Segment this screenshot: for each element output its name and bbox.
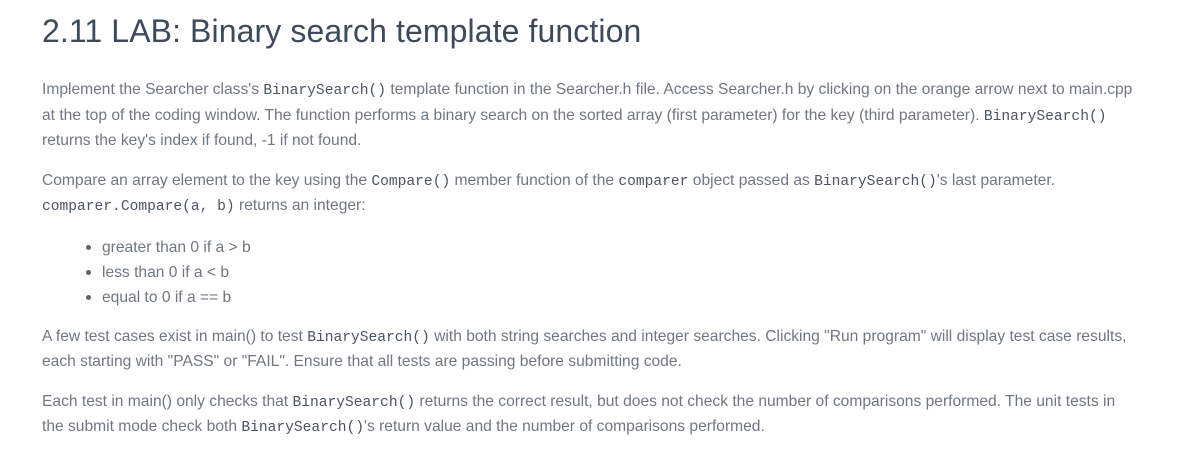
inline-code: BinarySearch() bbox=[292, 395, 415, 411]
comparison-result-list: greater than 0 if a > b less than 0 if a… bbox=[42, 235, 1134, 310]
inline-code: comparer bbox=[618, 174, 688, 190]
paragraph-intro: Implement the Searcher class's BinarySea… bbox=[42, 78, 1134, 154]
paragraph-test-cases: A few test cases exist in main() to test… bbox=[42, 325, 1134, 375]
text-run: Compare an array element to the key usin… bbox=[42, 172, 371, 189]
page-title: 2.11 LAB: Binary search template functio… bbox=[42, 10, 1144, 52]
paragraph-unit-tests: Each test in main() only checks that Bin… bbox=[42, 390, 1134, 441]
inline-code: BinarySearch() bbox=[307, 330, 430, 346]
paragraph-compare: Compare an array element to the key usin… bbox=[42, 169, 1134, 220]
text-run: Each test in main() only checks that bbox=[42, 393, 292, 410]
list-item: greater than 0 if a > b bbox=[86, 235, 1134, 260]
text-run: 's return value and the number of compar… bbox=[364, 418, 765, 435]
inline-code: BinarySearch() bbox=[814, 174, 937, 190]
text-run: returns an integer: bbox=[235, 197, 366, 214]
text-run: member function of the bbox=[450, 172, 618, 189]
inline-code: BinarySearch() bbox=[984, 109, 1107, 125]
inline-code: BinarySearch() bbox=[241, 420, 364, 436]
text-run: Implement the Searcher class's bbox=[42, 81, 263, 98]
list-item: less than 0 if a < b bbox=[86, 260, 1134, 285]
text-run: 's last parameter. bbox=[937, 172, 1060, 189]
text-run: object passed as bbox=[688, 172, 814, 189]
lab-description: Implement the Searcher class's BinarySea… bbox=[42, 78, 1134, 441]
inline-code: BinarySearch() bbox=[263, 83, 386, 99]
inline-code: Compare() bbox=[371, 174, 450, 190]
inline-code: comparer.Compare(a, b) bbox=[42, 199, 235, 215]
text-run: A few test cases exist in main() to test bbox=[42, 328, 307, 345]
list-item: equal to 0 if a == b bbox=[86, 285, 1134, 310]
lab-page: 2.11 LAB: Binary search template functio… bbox=[0, 0, 1186, 441]
